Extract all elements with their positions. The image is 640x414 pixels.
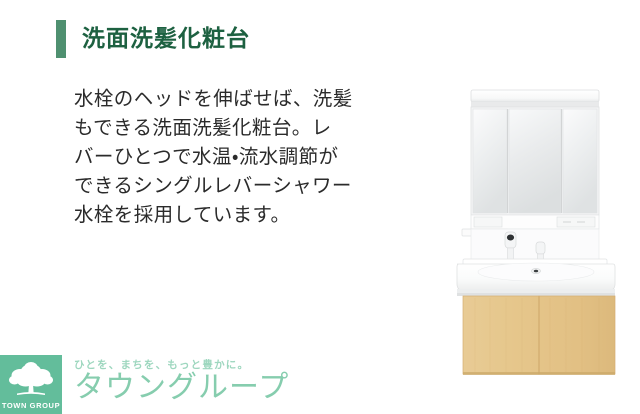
- description-block: 水栓のヘッドを伸ばせば、洗髪 もできる洗面洗髪化粧台。レ バーひとつで水温・流水…: [74, 84, 426, 229]
- page-title: 洗面洗髪化粧台: [82, 28, 250, 51]
- product-photo: [449, 86, 635, 376]
- town-group-logo-mark: TOWN GROUP: [0, 355, 62, 414]
- description-line: バーひとつで水温・流水調節が: [74, 142, 426, 171]
- description-line: もできる洗面洗髪化粧台。レ: [74, 113, 426, 142]
- tree-icon: [7, 359, 55, 405]
- logo-mark-caption: TOWN GROUP: [0, 401, 62, 410]
- footer-logo: TOWN GROUP ひとを、まちを、もっと豊かに。 タウングループ: [0, 355, 640, 414]
- description-line: 水栓のヘッドを伸ばせば、洗髪: [74, 84, 426, 113]
- page-header: 洗面洗髪化粧台: [56, 18, 250, 60]
- logo-text-block: ひとを、まちを、もっと豊かに。 タウングループ: [74, 355, 289, 405]
- description-line: できるシングルレバーシャワー: [74, 171, 426, 200]
- description-line: 水栓を採用しています。: [74, 200, 426, 229]
- logo-brand-name: タウングループ: [74, 371, 289, 405]
- bathroom-vanity-illustration: [449, 86, 635, 376]
- title-accent-bar: [56, 20, 66, 58]
